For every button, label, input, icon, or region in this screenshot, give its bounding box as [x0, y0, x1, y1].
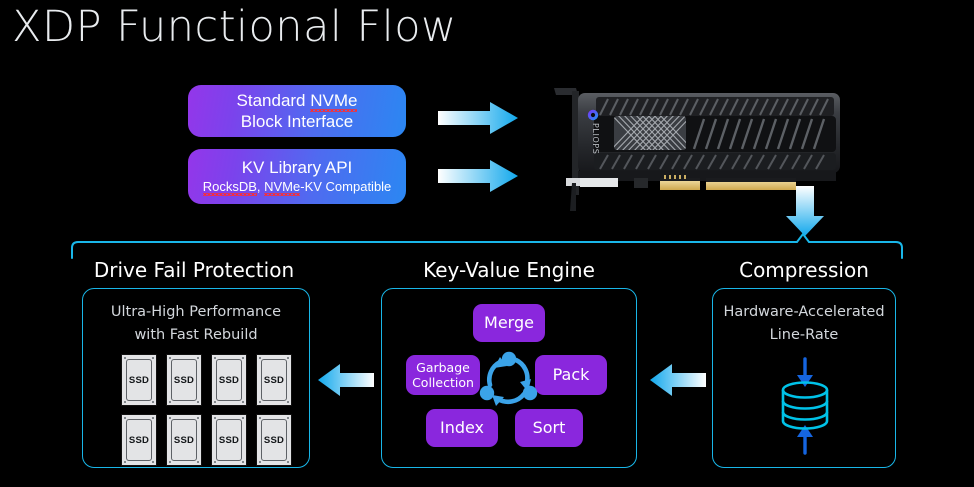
- kv-pill-pack[interactable]: Pack: [535, 355, 607, 395]
- arrow-left-kv-to-drives: [316, 362, 376, 398]
- ssd-icon: SSD: [121, 354, 157, 406]
- panel-drive-fail-protection[interactable]: Ultra-High Performance with Fast Rebuild…: [82, 288, 310, 468]
- spellcheck-underline-nvme-2: NVMe: [264, 179, 300, 196]
- compression-text-line1: Hardware-Accelerated: [713, 301, 895, 324]
- gc-label-line1: Garbage: [416, 360, 470, 375]
- panel-compression[interactable]: Hardware-Accelerated Line-Rate: [712, 288, 896, 468]
- spellcheck-underline-nvme: NVMe: [310, 91, 357, 112]
- section-heading-key-value-engine: Key-Value Engine: [375, 258, 643, 282]
- kv-pill-garbage-collection[interactable]: Garbage Collection: [406, 355, 480, 395]
- kv-api-line2: RocksDB, NVMe-KV Compatible: [203, 178, 392, 196]
- section-heading-compression: Compression: [670, 258, 938, 282]
- arrow-right-to-card-top: [438, 100, 520, 136]
- interface-line1: Standard NVMe: [237, 90, 358, 111]
- interface-line2: Block Interface: [241, 111, 353, 132]
- interface-box-kv-library-api[interactable]: KV Library API RocksDB, NVMe-KV Compatib…: [188, 149, 406, 204]
- section-heading-drive-fail-protection: Drive Fail Protection: [60, 258, 328, 282]
- drive-panel-text-line2: with Fast Rebuild: [83, 324, 309, 347]
- ssd-icon: SSD: [211, 414, 247, 466]
- arrow-right-to-card-bottom: [438, 158, 520, 194]
- ssd-icon: SSD: [121, 414, 157, 466]
- ssd-icon: SSD: [211, 354, 247, 406]
- slide-canvas: XDP Functional Flow Standard NVMe Block …: [0, 0, 974, 487]
- card-brand-wordmark: PLIOPS: [591, 123, 600, 154]
- section-bracket: [62, 232, 912, 260]
- compression-text-line2: Line-Rate: [713, 324, 895, 347]
- kv-pill-sort[interactable]: Sort: [515, 409, 583, 447]
- compression-cylinder-icon: [767, 357, 843, 455]
- arrow-left-compression-to-kv: [648, 362, 708, 398]
- cycle-arrows-icon: [476, 349, 542, 411]
- ssd-icon: SSD: [256, 354, 292, 406]
- spellcheck-underline-rocksdb: RocksDB: [203, 179, 257, 196]
- kv-pill-index[interactable]: Index: [426, 409, 498, 447]
- page-title: XDP Functional Flow: [12, 2, 457, 52]
- arrow-down-from-card: [784, 186, 826, 238]
- ssd-array: SSD SSD SSD SSD SSD SSD SSD SSD: [121, 354, 292, 466]
- ssd-icon: SSD: [166, 354, 202, 406]
- kv-api-line1: KV Library API: [242, 157, 353, 178]
- panel-key-value-engine[interactable]: Merge Garbage Collection Pack Index Sort: [381, 288, 637, 468]
- drive-panel-text-line1: Ultra-High Performance: [83, 301, 309, 324]
- ssd-icon: SSD: [166, 414, 202, 466]
- ssd-icon: SSD: [256, 414, 292, 466]
- interface-box-standard-nvme[interactable]: Standard NVMe Block Interface: [188, 85, 406, 137]
- gc-label-line2: Collection: [412, 375, 474, 390]
- kv-pill-merge[interactable]: Merge: [473, 304, 545, 342]
